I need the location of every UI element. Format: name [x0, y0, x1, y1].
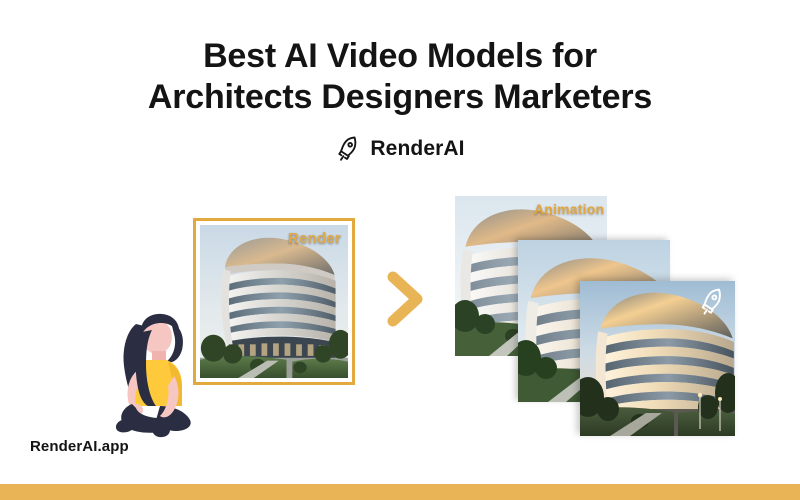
render-label: Render — [288, 230, 341, 247]
animation-label: Animation — [534, 201, 604, 217]
seated-woman-illustration — [108, 306, 204, 438]
slide-canvas: Best AI Video Models for Architects Desi… — [0, 0, 800, 500]
seated-woman-artwork — [108, 306, 204, 438]
footer-url[interactable]: RenderAI.app — [30, 438, 129, 455]
rocket-icon-overlay — [698, 288, 726, 316]
bottom-accent-bar — [0, 484, 800, 500]
